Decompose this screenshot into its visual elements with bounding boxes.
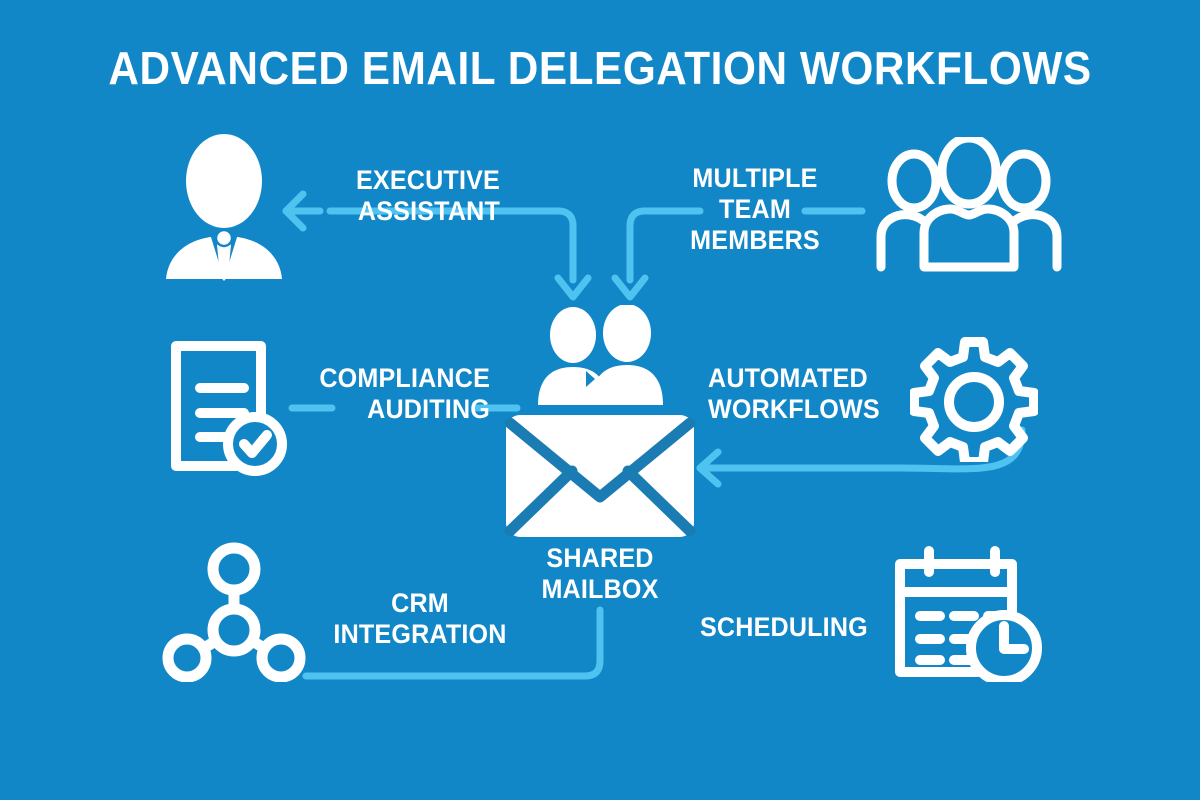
crm-integration-label: CRM INTEGRATION [327,588,513,650]
team-members-label-line3: MEMBERS [667,225,844,256]
team-to-mailbox-left [503,211,588,297]
infographic-canvas: ADVANCED EMAIL DELEGATION WORKFLOWS [0,0,1200,800]
page-title: ADVANCED EMAIL DELEGATION WORKFLOWS [48,44,1152,92]
shared-mailbox-label-line2: MAILBOX [507,574,693,605]
automated-label-line1: AUTOMATED [708,363,913,394]
crm-label-line2: INTEGRATION [327,619,513,650]
shared-envelope-icon [500,305,700,540]
shared-mailbox-label-line1: SHARED [507,543,693,574]
calendar-clock-icon [892,546,1046,682]
people-group-icon [876,137,1062,273]
executive-assistant-label: EXECUTIVE ASSISTANT [314,165,500,227]
executive-assistant-label-line1: EXECUTIVE [314,165,500,196]
compliance-auditing-label: COMPLIANCE AUDITING [304,363,490,425]
document-check-icon [166,336,290,480]
scheduling-label: SCHEDULING [700,612,905,643]
gear-icon [910,334,1038,462]
shared-mailbox-label: SHARED MAILBOX [507,543,693,605]
compliance-label-line2: AUDITING [304,394,490,425]
team-members-label: MULTIPLE TEAM MEMBERS [667,163,844,255]
compliance-label-line1: COMPLIANCE [304,363,490,394]
executive-assistant-label-line2: ASSISTANT [314,196,500,227]
automated-label-line2: WORKFLOWS [708,394,913,425]
crm-label-line1: CRM [327,588,513,619]
businessman-icon [158,133,290,281]
automated-workflows-label: AUTOMATED WORKFLOWS [708,363,913,425]
team-members-label-line2: TEAM [667,194,844,225]
network-hub-icon [162,542,306,682]
scheduling-label-line1: SCHEDULING [700,612,905,643]
team-members-label-line1: MULTIPLE [667,163,844,194]
